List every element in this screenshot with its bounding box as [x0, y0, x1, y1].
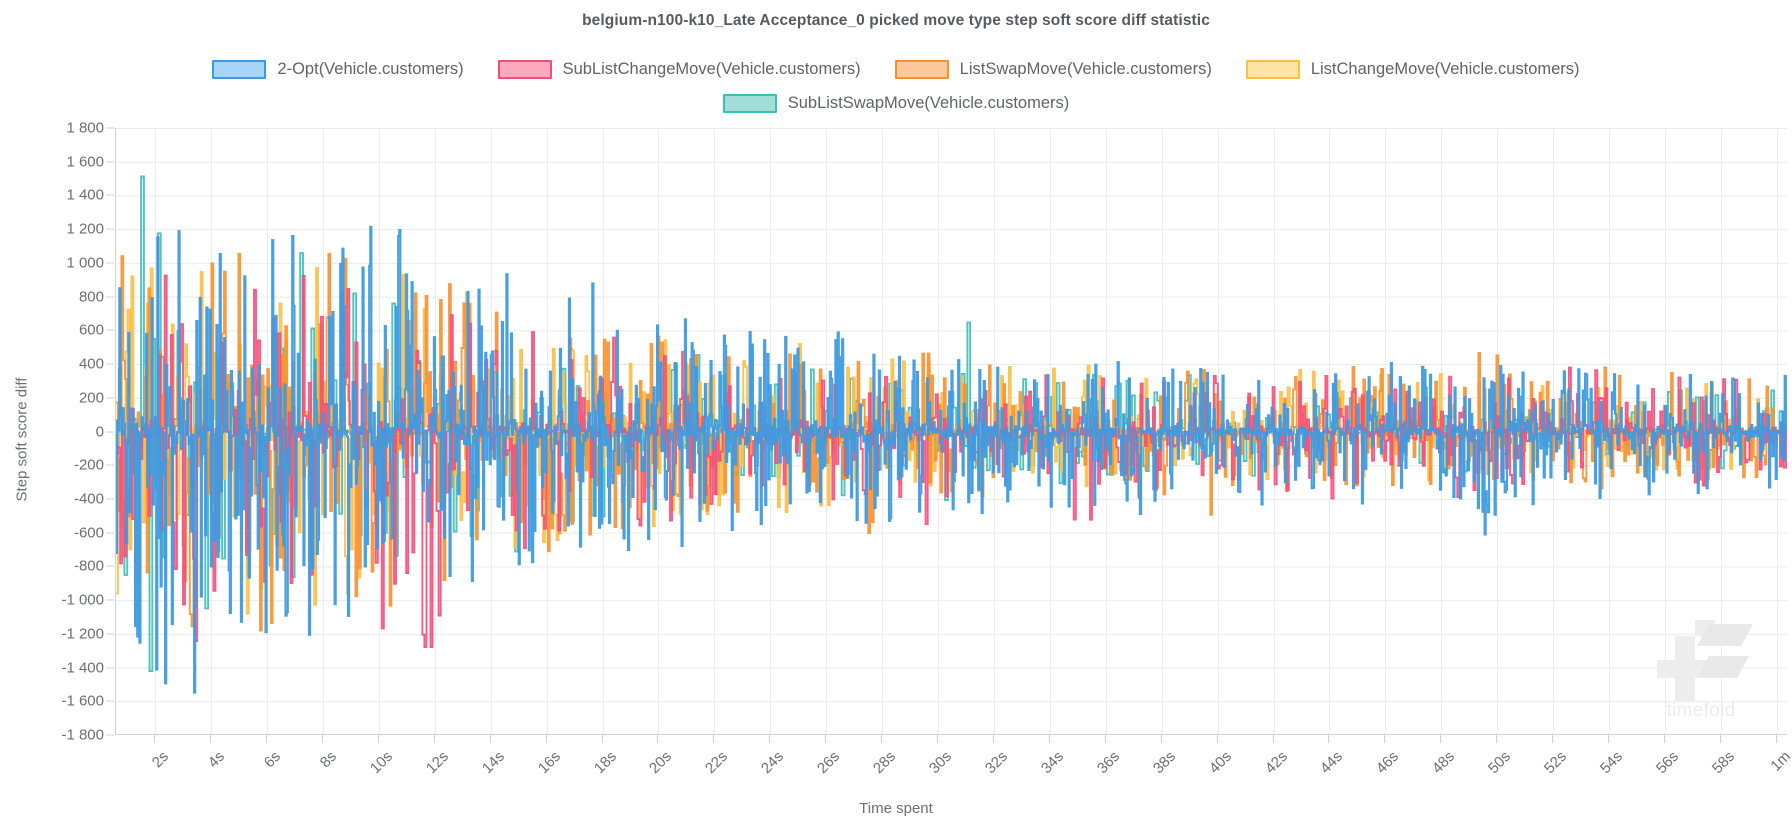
x-tick-mark	[1105, 735, 1106, 743]
x-tick-label: 38s	[1150, 748, 1179, 777]
x-tick-label: 52s	[1541, 748, 1570, 777]
x-tick-mark	[434, 735, 435, 743]
x-tick-mark	[1496, 735, 1497, 743]
x-tick-label: 18s	[590, 748, 619, 777]
plot-area: timefold	[115, 128, 1787, 735]
x-axis-ticks: 2s4s6s8s10s12s14s16s18s20s22s24s26s28s30…	[115, 735, 1787, 805]
x-tick-mark	[769, 735, 770, 743]
y-tick-label: 400	[79, 356, 104, 373]
legend-item-1[interactable]: SubListChangeMove(Vehicle.customers)	[498, 52, 861, 86]
y-tick-label: -1 800	[61, 727, 104, 744]
x-tick-label: 54s	[1597, 748, 1626, 777]
x-tick-mark	[1161, 735, 1162, 743]
x-tick-label: 10s	[367, 748, 396, 777]
y-tick-mark	[106, 364, 114, 365]
x-axis-title: Time spent	[0, 800, 1792, 817]
y-tick-mark	[106, 330, 114, 331]
x-tick-mark	[154, 735, 155, 743]
legend-item-2[interactable]: ListSwapMove(Vehicle.customers)	[895, 52, 1212, 86]
series-lines	[116, 128, 1787, 735]
chart-legend: 2-Opt(Vehicle.customers)SubListChangeMov…	[0, 52, 1792, 120]
y-tick-mark	[106, 667, 114, 668]
legend-swatch-icon	[895, 60, 949, 79]
x-tick-mark	[602, 735, 603, 743]
y-tick-label: 800	[79, 288, 104, 305]
legend-item-3[interactable]: ListChangeMove(Vehicle.customers)	[1246, 52, 1580, 86]
y-tick-mark	[106, 397, 114, 398]
y-tick-mark	[106, 229, 114, 230]
y-tick-mark	[106, 128, 114, 129]
y-tick-label: -800	[74, 558, 104, 575]
x-tick-label: 44s	[1317, 748, 1346, 777]
x-tick-mark	[713, 735, 714, 743]
legend-swatch-icon	[723, 94, 777, 113]
y-tick-mark	[106, 161, 114, 162]
legend-item-4[interactable]: SubListSwapMove(Vehicle.customers)	[723, 86, 1070, 120]
y-tick-mark	[106, 600, 114, 601]
y-tick-label: 1 000	[66, 254, 104, 271]
x-tick-label: 32s	[982, 748, 1011, 777]
x-tick-label: 34s	[1038, 748, 1067, 777]
x-tick-mark	[1384, 735, 1385, 743]
legend-item-label: SubListSwapMove(Vehicle.customers)	[788, 94, 1070, 113]
y-tick-mark	[106, 701, 114, 702]
x-tick-label: 4s	[205, 748, 228, 771]
x-tick-mark	[1608, 735, 1609, 743]
x-tick-label: 26s	[814, 748, 843, 777]
legend-item-0[interactable]: 2-Opt(Vehicle.customers)	[212, 52, 463, 86]
x-tick-mark	[993, 735, 994, 743]
page-title: belgium-n100-k10_Late Acceptance_0 picke…	[0, 12, 1792, 30]
x-tick-mark	[378, 735, 379, 743]
legend-swatch-icon	[1246, 60, 1300, 79]
y-tick-label: -1 600	[61, 693, 104, 710]
x-tick-label: 42s	[1261, 748, 1290, 777]
x-tick-label: 48s	[1429, 748, 1458, 777]
y-tick-label: 200	[79, 389, 104, 406]
x-tick-mark	[1720, 735, 1721, 743]
y-tick-label: -1 200	[61, 625, 104, 642]
x-tick-label: 36s	[1094, 748, 1123, 777]
x-tick-label: 12s	[423, 748, 452, 777]
x-tick-label: 40s	[1206, 748, 1235, 777]
y-tick-mark	[106, 633, 114, 634]
x-tick-mark	[881, 735, 882, 743]
y-tick-label: 0	[96, 423, 104, 440]
x-tick-label: 20s	[646, 748, 675, 777]
x-tick-mark	[546, 735, 547, 743]
x-tick-label: 28s	[870, 748, 899, 777]
x-tick-mark	[1273, 735, 1274, 743]
y-tick-label: 1 400	[66, 187, 104, 204]
x-tick-label: 8s	[317, 748, 340, 771]
x-tick-mark	[322, 735, 323, 743]
y-tick-mark	[106, 532, 114, 533]
x-tick-label: 6s	[261, 748, 284, 771]
x-tick-label: 1m	[1767, 748, 1792, 775]
x-tick-mark	[825, 735, 826, 743]
x-tick-mark	[210, 735, 211, 743]
x-tick-mark	[1664, 735, 1665, 743]
x-tick-label: 30s	[926, 748, 955, 777]
x-tick-mark	[490, 735, 491, 743]
x-tick-mark	[1217, 735, 1218, 743]
x-tick-label: 58s	[1709, 748, 1738, 777]
x-tick-mark	[1328, 735, 1329, 743]
x-tick-mark	[657, 735, 658, 743]
legend-item-label: 2-Opt(Vehicle.customers)	[277, 60, 463, 79]
legend-item-label: ListSwapMove(Vehicle.customers)	[960, 60, 1212, 79]
y-tick-label: -600	[74, 524, 104, 541]
x-tick-label: 16s	[534, 748, 563, 777]
y-tick-label: -400	[74, 490, 104, 507]
y-tick-label: -200	[74, 457, 104, 474]
x-tick-label: 46s	[1373, 748, 1402, 777]
x-tick-mark	[1776, 735, 1777, 743]
y-tick-mark	[106, 431, 114, 432]
y-axis-title: Step soft score diff	[14, 230, 31, 650]
x-tick-mark	[1049, 735, 1050, 743]
y-tick-mark	[106, 195, 114, 196]
y-tick-label: 1 800	[66, 120, 104, 137]
x-tick-mark	[937, 735, 938, 743]
y-tick-label: 1 600	[66, 153, 104, 170]
legend-swatch-icon	[212, 60, 266, 79]
x-tick-mark	[266, 735, 267, 743]
y-tick-mark	[106, 566, 114, 567]
y-tick-label: -1 000	[61, 592, 104, 609]
legend-swatch-icon	[498, 60, 552, 79]
y-tick-mark	[106, 498, 114, 499]
chart-container: belgium-n100-k10_Late Acceptance_0 picke…	[0, 0, 1792, 832]
y-tick-label: 600	[79, 322, 104, 339]
y-tick-label: -1 400	[61, 659, 104, 676]
legend-item-label: ListChangeMove(Vehicle.customers)	[1311, 60, 1580, 79]
x-tick-mark	[1440, 735, 1441, 743]
x-tick-label: 50s	[1485, 748, 1514, 777]
x-tick-label: 2s	[149, 748, 172, 771]
x-tick-label: 24s	[758, 748, 787, 777]
x-tick-label: 22s	[702, 748, 731, 777]
y-tick-mark	[106, 735, 114, 736]
legend-item-label: SubListChangeMove(Vehicle.customers)	[563, 60, 861, 79]
x-tick-label: 14s	[479, 748, 508, 777]
y-tick-mark	[106, 262, 114, 263]
x-tick-label: 56s	[1653, 748, 1682, 777]
y-tick-mark	[106, 296, 114, 297]
y-tick-mark	[106, 465, 114, 466]
x-tick-mark	[1552, 735, 1553, 743]
y-tick-label: 1 200	[66, 221, 104, 238]
